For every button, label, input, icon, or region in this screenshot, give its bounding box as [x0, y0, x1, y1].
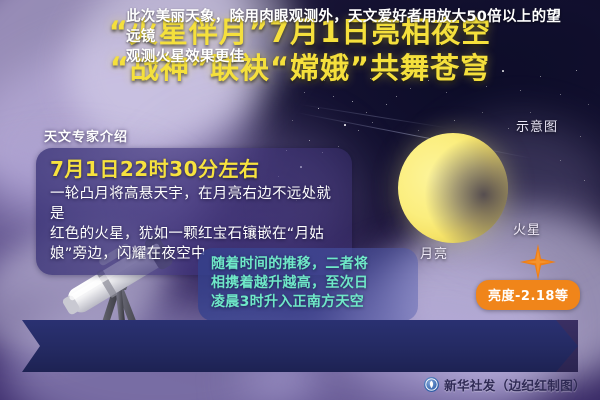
infographic-poster: “火星伴月”7月1日亮相夜空 “战神”联袂“嫦娥”共舞苍穹 示意图 月亮 火星 … [0, 0, 600, 400]
ribbon-body-line: 观测火星效果更佳 [126, 47, 564, 67]
motion-body-line: 随着时间的推移，二者将 [211, 255, 405, 274]
mars-label: 火星 [513, 219, 541, 238]
xinhua-logo-icon [424, 377, 439, 392]
moon-shadow [398, 133, 508, 243]
schematic-label: 示意图 [516, 116, 558, 135]
expert-body-line: 红色的火星，犹如一颗红宝石镶嵌在“月姑 [50, 224, 338, 244]
four-point-star-icon [519, 243, 557, 281]
moon-graphic [398, 133, 508, 243]
expert-intro-heading: 天文专家介绍 [44, 126, 128, 145]
motion-body-line: 相携着越升越高，至次日 [211, 274, 405, 293]
motion-body-line: 凌晨3时升入正南方天空 [211, 293, 405, 312]
bottom-ribbon-banner [22, 320, 578, 372]
motion-body-text: 随着时间的推移，二者将 相携着越升越高，至次日 凌晨3时升入正南方天空 [211, 255, 405, 312]
ribbon-body-text: 此次美丽天象，除用肉眼观测外，天文爱好者用放大50倍以上的望远镜 观测火星效果更… [126, 7, 564, 67]
moon-label: 月亮 [420, 243, 448, 262]
motion-info-panel: 随着时间的推移，二者将 相携着越升越高，至次日 凌晨3时升入正南方天空 [198, 248, 418, 321]
credit-line: 新华社发（边纪红制图） [424, 375, 586, 394]
credit-text: 新华社发（边纪红制图） [444, 375, 586, 394]
event-time-text: 7月1日22时30分左右 [50, 157, 338, 182]
ribbon-body-line: 此次美丽天象，除用肉眼观测外，天文爱好者用放大50倍以上的望远镜 [126, 7, 564, 47]
expert-body-line: 一轮凸月将高悬天宇，在月亮右边不远处就是 [50, 184, 338, 224]
mars-brightness-badge: 亮度-2.18等 [476, 280, 580, 310]
